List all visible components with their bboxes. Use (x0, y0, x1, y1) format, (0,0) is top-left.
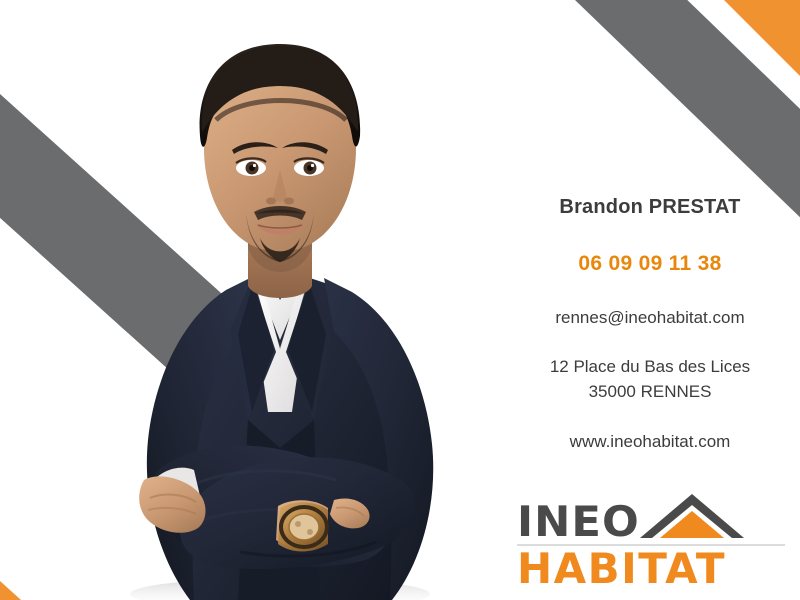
agent-email[interactable]: rennes@ineohabitat.com (500, 308, 800, 328)
orange-corner-triangle-right (723, 0, 800, 77)
agent-phone[interactable]: 06 09 09 11 38 (500, 252, 800, 275)
agent-address: 12 Place du Bas des Lices 35000 RENNES (500, 355, 800, 404)
ineo-habitat-logo[interactable]: INEO HABITAT (517, 492, 785, 586)
agent-name: Brandon PRESTAT (500, 196, 800, 218)
logo-top-row: INEO (517, 492, 785, 542)
agent-website[interactable]: www.ineohabitat.com (500, 432, 800, 452)
address-line-1: 12 Place du Bas des Lices (550, 357, 750, 376)
business-card: Brandon PRESTAT 06 09 09 11 38 rennes@in… (0, 0, 800, 600)
logo-wordmark-habitat: HABITAT (517, 547, 785, 591)
address-line-2: 35000 RENNES (589, 382, 712, 401)
contact-info-block: Brandon PRESTAT 06 09 09 11 38 rennes@in… (500, 196, 800, 452)
agent-portrait (40, 0, 520, 600)
logo-wordmark-ineo: INEO (517, 502, 640, 542)
house-roof-icon (638, 492, 746, 542)
grey-diagonal-band-right (575, 0, 800, 222)
